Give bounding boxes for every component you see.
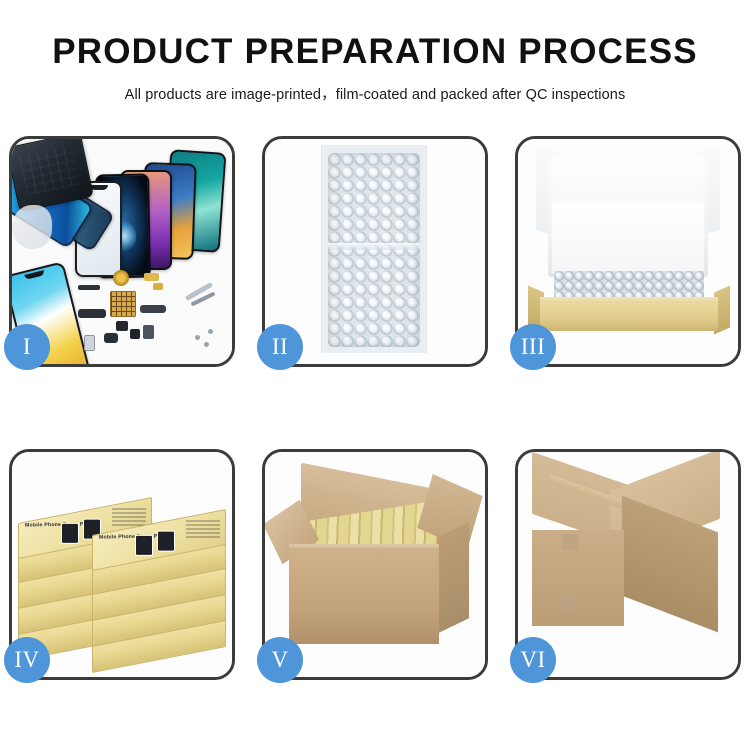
box-spec-lines (186, 520, 220, 540)
step-badge-2: II (257, 324, 303, 370)
box-front-panel (540, 303, 718, 331)
step-panel-6[interactable]: VI (515, 449, 741, 680)
bubble-wrap-seal (328, 243, 420, 250)
step-panel-1[interactable]: I (9, 136, 235, 367)
step-panel-5[interactable]: V (262, 449, 488, 680)
component-camera-module (116, 321, 128, 331)
component-flex-cable-right (140, 305, 166, 313)
component-screw-2 (204, 342, 209, 347)
carton-front-panel (532, 530, 624, 626)
hand-icon (12, 205, 52, 249)
component-wireless-coil (113, 270, 129, 286)
component-flex-cable-left (78, 309, 106, 318)
box-stack: Mobile Phone Spare Parts Mobile Phone Sp… (14, 470, 230, 670)
step-badge-5: V (257, 637, 303, 683)
component-speaker (104, 333, 118, 343)
component-shield-plate (143, 325, 154, 339)
step-image-2 (265, 139, 485, 364)
box-window-2 (157, 531, 175, 552)
process-steps-grid: I II III (9, 136, 741, 680)
component-screw-3 (208, 329, 213, 334)
step-panel-2[interactable]: II (262, 136, 488, 367)
foam-liner (552, 203, 704, 273)
box-window-1 (135, 535, 153, 556)
page-subtitle: All products are image-printed，film-coat… (0, 83, 750, 104)
step-image-5 (265, 452, 485, 677)
step-badge-3: III (510, 324, 556, 370)
step-badge-1: I (4, 324, 50, 370)
step-panel-4[interactable]: Mobile Phone Spare Parts Mobile Phone Sp… (9, 449, 235, 680)
component-gold-connector-2 (153, 283, 163, 290)
component-screw-1 (195, 335, 200, 340)
component-chip (130, 329, 140, 339)
step-badge-6: VI (510, 637, 556, 683)
step-image-1 (12, 139, 232, 364)
box-window-1 (61, 523, 79, 544)
component-logic-board (110, 291, 136, 317)
carton-tab-lower (562, 594, 578, 610)
carton-front-panel (289, 548, 439, 644)
page-header: PRODUCT PREPARATION PROCESS All products… (0, 0, 750, 104)
bubble-wrap-pouch (328, 153, 420, 347)
step-panel-3[interactable]: III (515, 136, 741, 367)
step-badge-4: IV (4, 637, 50, 683)
step-image-4: Mobile Phone Spare Parts Mobile Phone Sp… (12, 452, 232, 677)
carton-side-right (437, 522, 469, 634)
page-title: PRODUCT PREPARATION PROCESS (0, 34, 750, 69)
carton-tab-upper (562, 534, 578, 550)
component-battery (84, 335, 95, 351)
step-image-3 (518, 139, 738, 364)
component-antenna-bar (78, 285, 100, 290)
step-image-6 (518, 452, 738, 677)
component-gold-connector-1 (144, 273, 159, 281)
